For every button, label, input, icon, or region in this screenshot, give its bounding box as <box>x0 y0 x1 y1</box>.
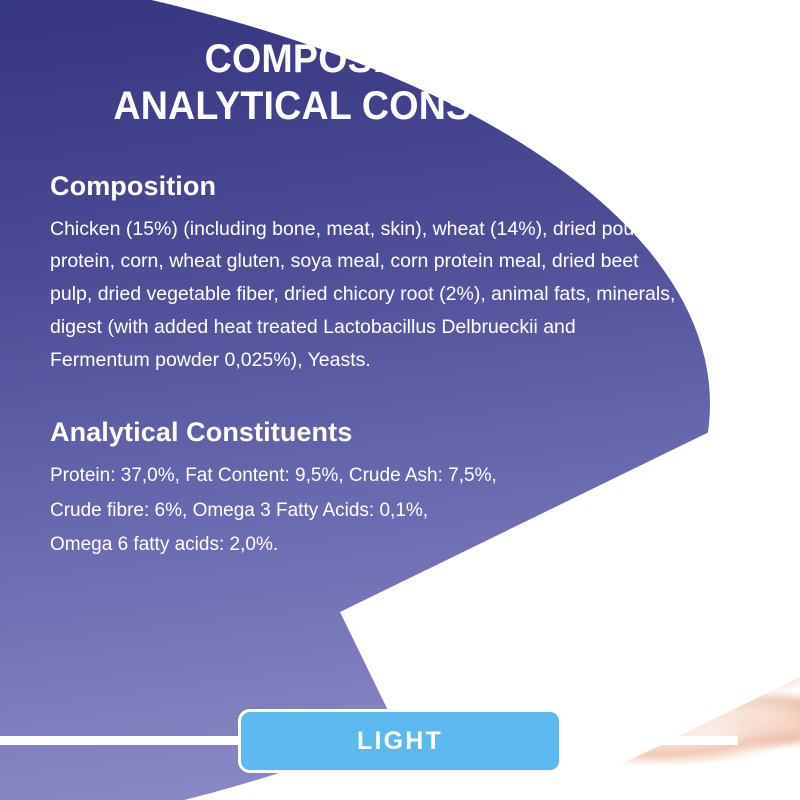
footer-rule-left <box>0 736 238 745</box>
composition-heading: Composition <box>50 172 690 202</box>
card-content: Composition Chicken (15%) (including bon… <box>50 172 690 563</box>
variant-badge-light[interactable]: LIGHT <box>238 709 562 773</box>
section-spacer <box>50 376 690 418</box>
product-info-card: COMPOSITION AND ANALYTICAL CONSTITUENTS … <box>0 0 800 800</box>
constituents-line: Omega 6 fatty acids: 2,0%. <box>50 528 690 563</box>
composition-text: Chicken (15%) (including bone, meat, ski… <box>50 213 680 377</box>
footer-rule-right <box>562 736 738 745</box>
analytical-constituents-heading: Analytical Constituents <box>50 418 690 448</box>
analytical-constituents-text: Protein: 37,0%, Fat Content: 9,5%, Crude… <box>50 459 690 563</box>
page-title-line-2: ANALYTICAL CONSTITUENTS <box>61 83 710 130</box>
constituents-line: Protein: 37,0%, Fat Content: 9,5%, Crude… <box>50 459 690 494</box>
page-title-line-1: COMPOSITION AND <box>61 36 710 83</box>
page-title: COMPOSITION AND ANALYTICAL CONSTITUENTS <box>61 36 710 130</box>
constituents-line: Crude fibre: 6%, Omega 3 Fatty Acids: 0,… <box>50 494 690 529</box>
variant-badge-label: LIGHT <box>357 727 443 756</box>
